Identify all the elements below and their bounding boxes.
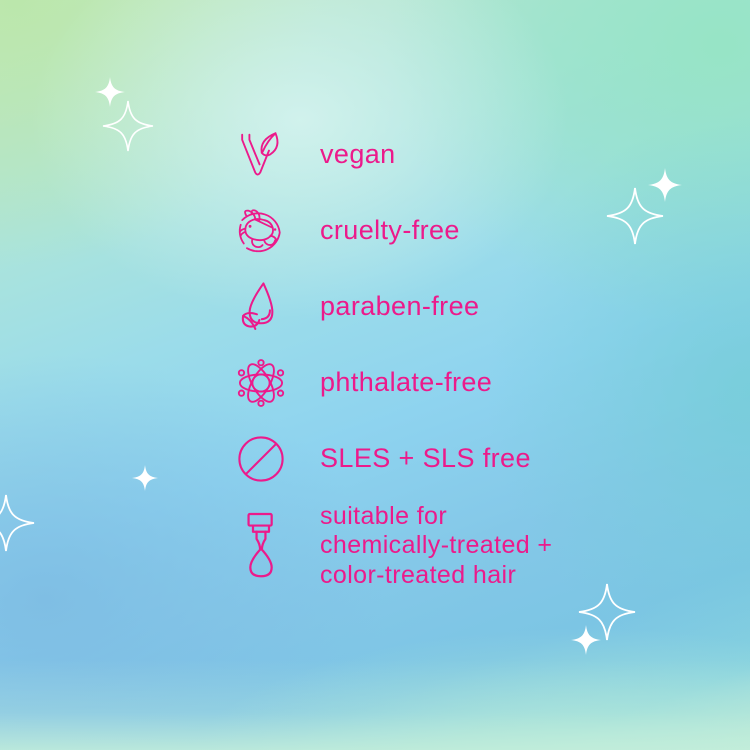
- sparkle-left-edge-large: [0, 495, 34, 551]
- prohibition-circle-slash-icon: [232, 428, 290, 490]
- rabbit-circle-icon: [232, 200, 290, 262]
- claims-list: vegan: [232, 118, 702, 596]
- sparkle-bottom-right-small: [571, 625, 601, 655]
- claim-item-phthalate-free: phthalate-free: [232, 346, 702, 420]
- droplet-leaf-icon: [232, 276, 290, 338]
- claim-item-suitable-for-treated-hair: suitable for chemically-treated + color-…: [232, 498, 702, 594]
- sparkle-top-left-small: [95, 77, 125, 107]
- claim-label: suitable for chemically-treated + color-…: [320, 502, 552, 591]
- claim-item-sles-sls-free: SLES + SLS free: [232, 422, 702, 496]
- claim-label: paraben-free: [320, 289, 479, 325]
- claim-item-paraben-free: paraben-free: [232, 270, 702, 344]
- claim-label: cruelty-free: [320, 213, 460, 249]
- claim-label: vegan: [320, 137, 396, 173]
- sparkle-top-left-large: [103, 101, 153, 151]
- dropper-pipette-icon: [232, 515, 290, 577]
- claim-item-cruelty-free: cruelty-free: [232, 194, 702, 268]
- claim-label: phthalate-free: [320, 365, 492, 401]
- sparkle-mid-left-small: [132, 465, 158, 491]
- atom-molecule-icon: [232, 352, 290, 414]
- leaf-v-icon: [232, 124, 290, 186]
- claim-label: SLES + SLS free: [320, 441, 531, 477]
- claims-graphic-canvas: vegan: [0, 0, 750, 750]
- claim-item-vegan: vegan: [232, 118, 702, 192]
